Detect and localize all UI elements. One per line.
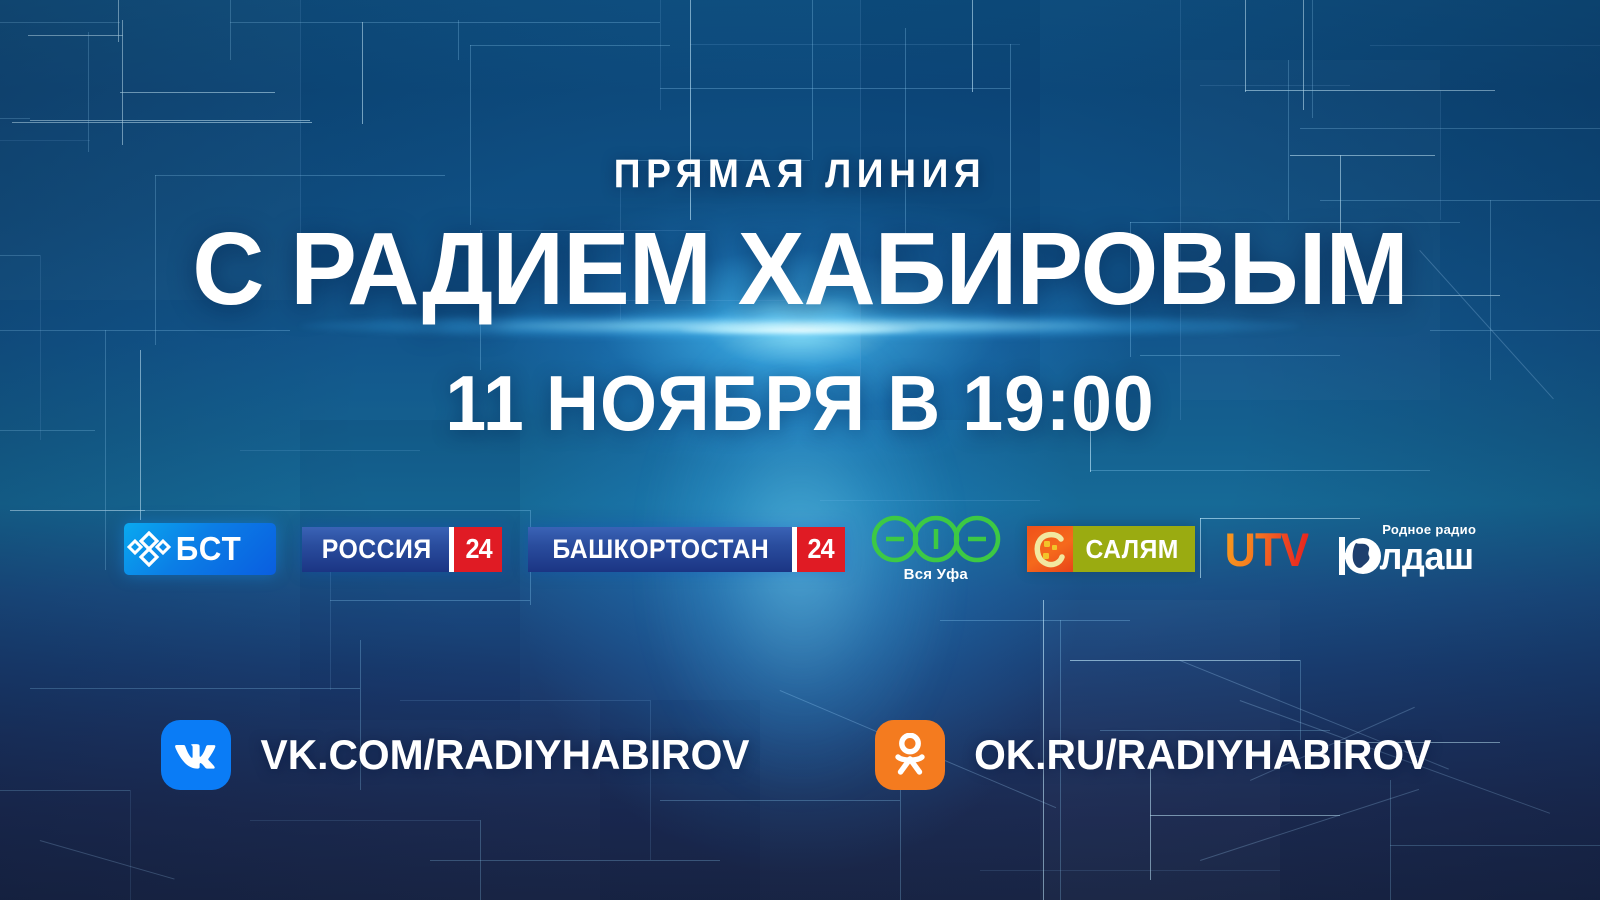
logo-bashkortostan-label: БАШКОРТОСТАН bbox=[553, 534, 770, 565]
social-links-row: VK.COM/RADIYHABIROV OK.RU/RADIYHABIROV bbox=[0, 712, 1600, 798]
logo-bashkortostan-24[interactable]: БАШКОРТОСТАН 24 bbox=[528, 521, 845, 577]
yuldash-globe-icon bbox=[1338, 534, 1383, 576]
vk-icon bbox=[161, 720, 231, 790]
social-link-ok-url: OK.RU/RADIYHABIROV bbox=[974, 731, 1431, 779]
logo-utv[interactable]: UTV bbox=[1221, 521, 1312, 577]
social-link-ok[interactable]: OK.RU/RADIYHABIROV bbox=[875, 720, 1438, 790]
event-dateline: 11 НОЯБРЯ В 19:00 bbox=[48, 358, 1552, 449]
social-link-vk[interactable]: VK.COM/RADIYHABIROV bbox=[161, 720, 757, 790]
logo-yuldash-label: лдаш bbox=[1380, 539, 1474, 575]
social-link-vk-url: VK.COM/RADIYHABIROV bbox=[261, 731, 750, 779]
logo-rossiya-badge: 24 bbox=[465, 533, 491, 565]
logo-bst-label: БСТ bbox=[176, 530, 242, 568]
logo-rossiya-24[interactable]: РОССИЯ 24 bbox=[302, 521, 502, 577]
event-kicker: ПРЯМАЯ ЛИНИЯ bbox=[56, 152, 1544, 197]
logo-utv-label: UTV bbox=[1225, 522, 1309, 577]
logo-bst[interactable]: БСТ bbox=[124, 521, 276, 577]
ok-icon bbox=[875, 720, 945, 790]
logo-salyam-label: САЛЯМ bbox=[1085, 534, 1178, 565]
event-headline: С РАДИЕМ ХАБИРОВЫМ bbox=[24, 215, 1576, 322]
broadcaster-logo-row: БСТ РОССИЯ 24 БАШКОРТОСТАН 24 bbox=[0, 519, 1600, 579]
logo-salyam[interactable]: САЛЯМ bbox=[1027, 521, 1195, 577]
logo-bashkortostan-badge: 24 bbox=[808, 533, 834, 565]
salyam-mark-icon bbox=[1027, 526, 1073, 572]
logo-yuldash[interactable]: Родное радио лдаш bbox=[1338, 521, 1476, 577]
logo-ofo-sub: Вся Уфа bbox=[904, 566, 968, 583]
logo-yuldash-sub: Родное радио bbox=[1382, 522, 1476, 537]
logo-rossiya-label: РОССИЯ bbox=[322, 534, 432, 565]
logo-ofo[interactable]: Вся Уфа bbox=[871, 521, 1001, 577]
promo-banner: ПРЯМАЯ ЛИНИЯ С РАДИЕМ ХАБИРОВЫМ 11 НОЯБР… bbox=[0, 0, 1600, 900]
bashkir-ornament-icon bbox=[124, 523, 174, 575]
ofo-circles-icon bbox=[871, 515, 1001, 563]
